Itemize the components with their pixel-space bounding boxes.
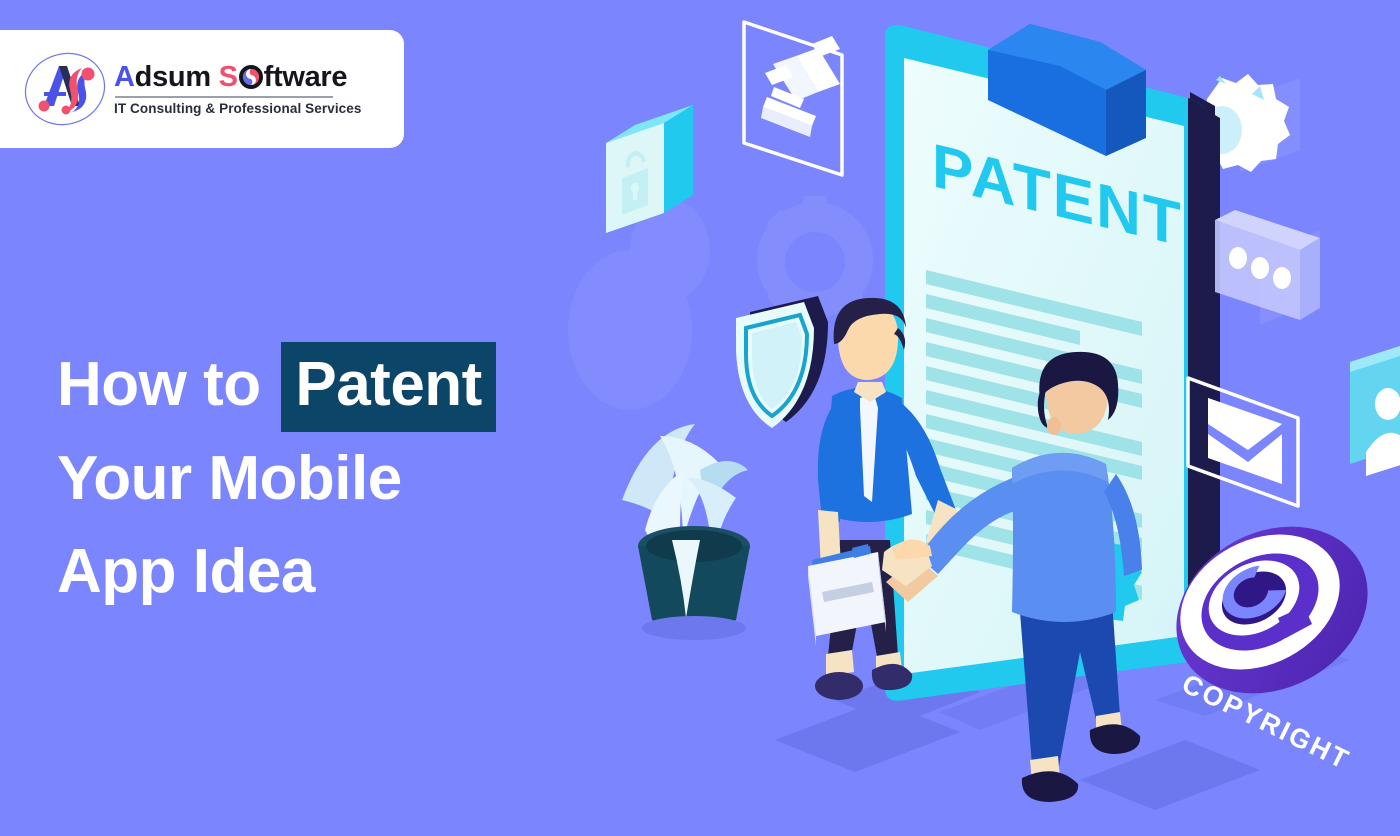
brand-name: Adsum Sftware: [114, 62, 362, 92]
shield-icon: [736, 296, 828, 428]
user-icon: [1350, 346, 1400, 476]
logo-card[interactable]: Adsum Sftware IT Consulting & Profession…: [0, 30, 404, 148]
brand-adsum-rest: dsum: [135, 61, 211, 93]
brand-software-rest: ftware: [264, 61, 348, 93]
plant-icon: [622, 424, 750, 640]
headline-line-3: App Idea: [57, 525, 496, 618]
illustration: PATENT: [560, 0, 1400, 836]
chat-bubble-icon: [1215, 210, 1320, 320]
headline-line-2: Your Mobile: [57, 432, 496, 525]
hero-banner: PATENT: [0, 0, 1400, 836]
headline-prefix: How to: [57, 350, 277, 419]
brand-divider: [115, 96, 333, 98]
gavel-icon: [744, 22, 842, 175]
brand-o-swirl-icon: [238, 64, 264, 90]
headline-line-1: How to Patent: [57, 338, 496, 432]
headline-highlight: Patent: [281, 342, 495, 432]
logo-text-block: Adsum Sftware IT Consulting & Profession…: [114, 62, 362, 116]
brand-space: [211, 61, 219, 93]
adsum-as-monogram-icon: [22, 46, 108, 132]
brand-initial-a: A: [114, 61, 135, 93]
brand-tagline: IT Consulting & Professional Services: [114, 101, 362, 116]
brand-initial-s: S: [219, 61, 238, 93]
page-title: How to Patent Your Mobile App Idea: [57, 338, 496, 618]
